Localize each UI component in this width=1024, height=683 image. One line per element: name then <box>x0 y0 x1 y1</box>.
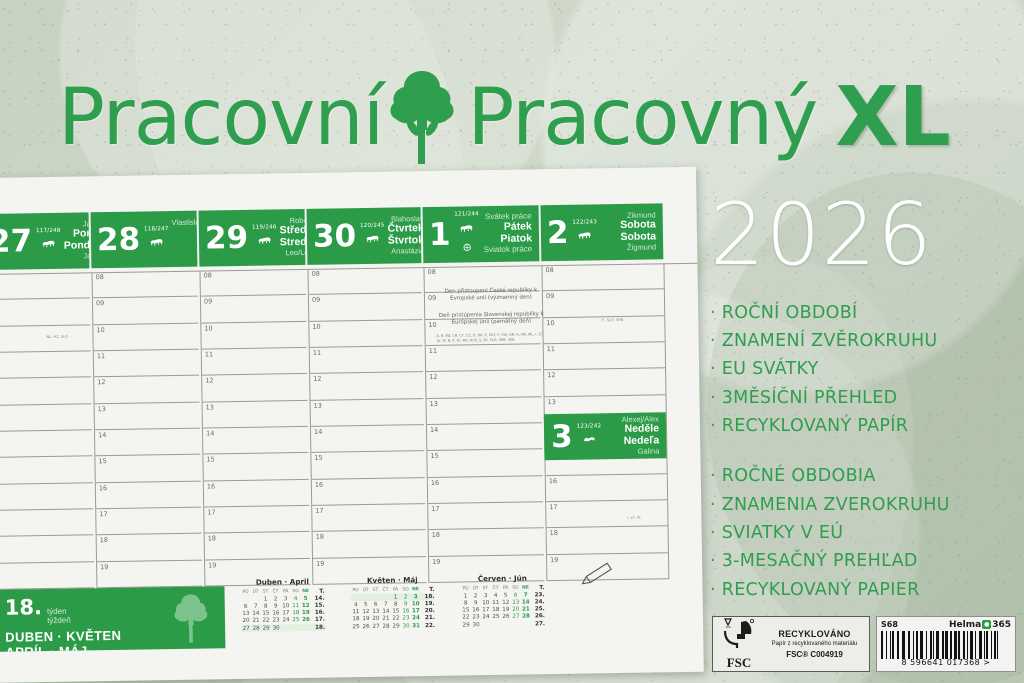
mini-day-cell[interactable]: 20 <box>511 606 521 613</box>
hour-slot[interactable]: 12 <box>426 371 541 399</box>
hour-label: 15 <box>314 454 322 462</box>
hour-slot[interactable]: 12 <box>310 372 423 400</box>
weekday-sk: Utorok <box>172 238 198 251</box>
title-slovak: Pracovný <box>467 79 817 157</box>
day-meta: 122/243 <box>572 220 597 245</box>
taurus-icon <box>36 235 61 253</box>
hour-slot[interactable]: 13 <box>203 401 308 429</box>
mini-day-cell[interactable]: 26 <box>501 613 511 620</box>
feature-item: SVIATKY V EÚ <box>710 519 1024 547</box>
feature-item: 3-MESAČNÝ PREHĽAD <box>710 547 1024 575</box>
mini-month-table: POÚTSTČTPÁSONET.123456723.89101112131424… <box>460 584 545 628</box>
hour-slot[interactable]: 17 <box>204 506 309 534</box>
hour-slot[interactable]: 18 <box>313 530 426 558</box>
day-header-28[interactable]: 28118/247Vlastislav/VlastislavaÚterýUtor… <box>91 211 198 269</box>
name-day-bottom: Jaroslav <box>64 252 89 261</box>
name-day-bottom: Leo/Lea <box>280 249 305 258</box>
hour-slot[interactable]: 11 <box>0 351 91 379</box>
mini-day-cell[interactable] <box>521 620 531 627</box>
mini-day-cell[interactable]: 22 <box>391 615 401 622</box>
hour-slot[interactable]: 17 <box>96 508 201 536</box>
hour-label: 13 <box>430 400 438 408</box>
mini-day-cell[interactable] <box>501 621 511 628</box>
hour-slot[interactable]: 16 <box>0 483 93 511</box>
page-header: Pracovní Pracovný XL <box>0 58 1024 178</box>
mini-day-cell[interactable]: 27 <box>511 613 521 620</box>
hour-label: 10 <box>312 322 320 330</box>
hour-slot[interactable]: 14 <box>0 430 92 458</box>
hour-label: 08 <box>96 273 104 281</box>
hour-slot[interactable]: 18 <box>547 527 668 555</box>
day-names: Svátek prácePátekPiatokSviatok práce <box>479 213 532 255</box>
hour-label: 12 <box>205 377 213 385</box>
hour-label: 13 <box>206 403 214 411</box>
mini-month-april: Duben · AprilPOÚTSTČTPÁSONET.1234514.678… <box>240 577 325 632</box>
mini-day-cell[interactable] <box>291 624 301 631</box>
mini-day-cell[interactable]: 11 <box>491 599 501 606</box>
hour-slot[interactable]: 08 <box>308 267 421 295</box>
mini-day-cell[interactable]: 27 <box>241 625 251 632</box>
day-meta: 119/246 <box>252 225 277 250</box>
mini-day-cell[interactable]: 16 <box>471 607 481 614</box>
eu-code-monday: NL, HZ, SLO <box>46 335 67 339</box>
name-day-bottom: Žigmund <box>600 243 656 252</box>
mini-day-cell[interactable]: 21 <box>381 615 391 622</box>
day-number: 1 <box>429 219 451 250</box>
year-label: 2026 <box>710 195 1024 277</box>
hour-slot[interactable]: 18 <box>97 534 202 562</box>
mini-day-cell[interactable] <box>511 621 521 628</box>
mini-day-cell[interactable]: 28 <box>251 625 261 632</box>
hour-label: 17 <box>207 508 215 516</box>
feature-item: ZNAMENIA ZVEROKRUHU <box>710 491 1024 519</box>
mini-day-cell[interactable]: 28 <box>381 623 391 630</box>
mini-week-number: 26. <box>531 613 545 620</box>
day-number: 29 <box>205 222 249 254</box>
hour-slot[interactable]: 17 <box>546 500 667 528</box>
mini-day-cell[interactable]: 16 <box>401 608 411 615</box>
hour-slot[interactable]: 08 <box>92 271 197 299</box>
mini-week-number: 23. <box>531 591 545 598</box>
mini-day-cell[interactable]: 14 <box>521 599 531 606</box>
mini-day-cell[interactable]: 30 <box>471 621 481 628</box>
mini-day-cell[interactable] <box>481 621 491 628</box>
feature-list-czech: ROČNÍ OBDOBÍZNAMENÍ ZVĚROKRUHUEU SVÁTKY3… <box>710 299 1024 441</box>
sunday-meta: 123/242 <box>577 424 602 449</box>
mini-day-cell[interactable]: 29 <box>391 622 401 629</box>
hour-slot[interactable]: 15 <box>0 457 93 485</box>
hour-label: 17 <box>431 505 439 513</box>
hour-slot[interactable]: 15 <box>95 455 200 483</box>
hour-label: 08 <box>427 268 435 276</box>
hour-label: 13 <box>98 405 106 413</box>
hour-label: 14 <box>206 429 214 437</box>
mini-day-cell[interactable]: 13 <box>241 610 251 617</box>
mini-day-cell[interactable]: 27 <box>371 623 381 630</box>
hour-label: 14 <box>314 428 322 436</box>
hour-slot[interactable]: 17 <box>0 509 94 537</box>
brand-mark-icon: ● <box>982 620 991 629</box>
hour-label: 11 <box>547 345 555 353</box>
hour-slot[interactable]: 16 <box>204 480 309 508</box>
hour-label: 15 <box>206 456 214 464</box>
hour-label: 12 <box>547 371 555 379</box>
mini-week-number: 21. <box>421 615 435 622</box>
barcode-bar <box>998 631 1000 659</box>
day-header-band: 27117/248JaroslavPondělíPondelokJaroslav… <box>0 203 697 274</box>
hour-slot[interactable]: 19 <box>97 560 202 588</box>
day-names: RobertStředaStredaLeo/Lea <box>276 217 305 258</box>
hour-slot[interactable]: 18 <box>205 532 310 560</box>
mini-day-cell[interactable]: 10 <box>281 603 291 610</box>
hour-slot[interactable]: 14 <box>311 425 424 453</box>
mini-day-cell[interactable]: 24 <box>481 614 491 621</box>
mini-week-number: 18. <box>311 624 325 631</box>
mini-day-cell[interactable]: 11 <box>351 609 361 616</box>
fsc-tree-icon: 100 <box>721 617 757 649</box>
week-word-sk: týždeň <box>47 616 71 625</box>
hour-slot[interactable]: 18 <box>429 529 544 557</box>
hour-label: 19 <box>316 559 324 567</box>
day-header-1[interactable]: 1121/244Svátek prácePátekPiatokSviatok p… <box>423 205 540 263</box>
hour-slot[interactable]: 18 <box>0 536 94 564</box>
mini-week-number: 24. <box>531 599 545 606</box>
hour-slot[interactable]: 14 <box>427 423 542 451</box>
mini-month-title: Duben · April <box>240 577 324 587</box>
mini-day-cell[interactable]: 17 <box>281 610 291 617</box>
mini-day-cell[interactable]: 19 <box>361 616 371 623</box>
hour-label: 17 <box>315 507 323 515</box>
hour-slot[interactable]: 15 <box>311 451 424 479</box>
feature-item: ROČNÍ OBDOBÍ <box>710 299 1024 327</box>
mini-day-cell[interactable]: 15 <box>391 608 401 615</box>
hour-label: 17 <box>99 510 107 518</box>
taurus-icon <box>454 219 479 237</box>
hour-slot[interactable]: 11 <box>94 350 199 378</box>
hour-slot[interactable]: 09 <box>201 295 306 323</box>
mini-day-cell[interactable]: 15 <box>461 607 471 614</box>
day-header-2[interactable]: 2122/243ZikmundSobotaSobotaŽigmund <box>540 203 663 261</box>
hour-slot[interactable]: 08 <box>200 269 305 297</box>
hour-slot[interactable]: 19 <box>0 562 94 590</box>
hour-label: 19 <box>208 561 216 569</box>
hour-slot[interactable]: 11 <box>426 344 541 372</box>
hour-label: 12 <box>313 375 321 383</box>
hour-label: 10 <box>96 326 104 334</box>
eu-code-saturday: IT, SLO, SRB <box>601 318 623 322</box>
feature-item: RECYKLOVANÝ PAPÍR <box>710 412 1024 440</box>
mini-week-number: 18. <box>421 593 435 600</box>
hour-label: 16 <box>431 478 439 486</box>
hour-label: 18 <box>316 533 324 541</box>
taurus-icon <box>572 227 597 245</box>
hour-slot[interactable]: 13 <box>311 399 424 427</box>
hour-slot[interactable]: 10 <box>309 320 422 348</box>
day-fraction: 117/248 <box>36 228 61 234</box>
hour-slot[interactable]: 16 <box>546 474 667 502</box>
hour-label: 14 <box>98 431 106 439</box>
mini-day-cell[interactable]: 11 <box>291 602 301 609</box>
hour-label: 08 <box>545 266 553 274</box>
hour-label: 09 <box>96 299 104 307</box>
mini-week-row: 2728293018. <box>241 624 325 633</box>
day-header-27[interactable]: 27117/248JaroslavPondělíPondelokJaroslav <box>0 212 89 270</box>
hour-slot[interactable]: 10 <box>0 325 91 353</box>
fsc-wordmark: FSC <box>718 655 760 671</box>
mini-day-cell[interactable]: 18 <box>351 616 361 623</box>
hour-slot[interactable]: 13 <box>95 402 200 430</box>
mini-day-cell[interactable] <box>301 624 311 631</box>
hour-slot[interactable]: 08 <box>0 272 90 300</box>
hour-slot[interactable]: 16 <box>312 478 425 506</box>
taurus-icon <box>144 233 169 251</box>
day-fraction: 118/247 <box>144 227 169 233</box>
hour-slot[interactable]: 13 <box>0 404 92 432</box>
mini-day-cell[interactable]: 17 <box>481 607 491 614</box>
taurus-icon <box>360 230 385 248</box>
mini-day-cell[interactable]: 20 <box>241 618 251 625</box>
feature-item: 3MĚSÍČNÍ PŘEHLED <box>710 384 1024 412</box>
mini-day-cell[interactable]: 13 <box>511 599 521 606</box>
day-column-27[interactable]: 080910111213141516171819 <box>0 272 94 590</box>
weekday-cz: Úterý <box>172 226 198 239</box>
mini-week-number: 15. <box>311 602 325 609</box>
hour-label: 14 <box>430 426 438 434</box>
mini-month-title: Červen · Jún <box>460 573 544 583</box>
hour-slot[interactable]: 16 <box>428 476 543 504</box>
mini-day-cell[interactable]: 24 <box>281 617 291 624</box>
day-column-29[interactable]: 080910111213141516171819 <box>199 269 310 587</box>
mini-month-title: Květen · Máj <box>350 575 434 585</box>
hour-label: 11 <box>429 347 437 355</box>
hour-slot[interactable]: 09 <box>0 299 90 327</box>
day-number: 30 <box>313 221 357 253</box>
product-sku: S68 <box>881 620 898 629</box>
mini-week-number: 25. <box>531 606 545 613</box>
week-number: 18. <box>5 595 43 620</box>
hour-slot[interactable]: 08 <box>542 263 663 291</box>
hour-slot[interactable]: 14 <box>203 427 308 455</box>
hour-slot[interactable]: 17 <box>428 502 543 530</box>
mini-day-cell[interactable]: 19 <box>301 609 311 616</box>
hour-slot[interactable]: 09 <box>543 290 664 318</box>
hour-slot[interactable]: 15 <box>203 453 308 481</box>
mini-day-cell[interactable]: 20 <box>371 616 381 623</box>
day-fraction: 122/243 <box>572 220 597 226</box>
mini-day-cell[interactable]: 15 <box>261 610 271 617</box>
brand-name: Helma <box>949 620 981 630</box>
hour-label: 15 <box>98 457 106 465</box>
feature-item: ZNAMENÍ ZVĚROKRUHU <box>710 327 1024 355</box>
holiday-note-sk: Deň pristúpenia Slovenskej republiky k E… <box>432 311 550 327</box>
mini-day-cell[interactable]: 23 <box>401 615 411 622</box>
mini-day-cell[interactable]: 28 <box>521 613 531 620</box>
feature-list-slovak: ROČNÉ OBDOBIAZNAMENIA ZVEROKRUHUSVIATKY … <box>710 462 1024 604</box>
taurus-icon <box>252 232 277 250</box>
hour-slot[interactable]: 10 <box>93 323 198 351</box>
hour-label: 11 <box>205 350 213 358</box>
mini-day-cell[interactable]: 19 <box>501 606 511 613</box>
mini-day-cell[interactable]: 30 <box>271 624 281 631</box>
fsc-certification-badge: 100 FSC RECYKLOVÁNO Papír z recyklovanéh… <box>712 616 870 672</box>
hour-slot[interactable]: 09 <box>309 293 422 321</box>
mini-day-cell[interactable]: 22 <box>261 617 271 624</box>
hour-slot[interactable]: 12 <box>202 374 307 402</box>
feature-item: RECYKLOVANÝ PAPIER <box>710 576 1024 604</box>
mini-week-number: 19. <box>421 600 435 607</box>
day-meta: 120/245 <box>360 223 385 248</box>
day-column-30[interactable]: 080910111213141516171819 <box>307 267 426 585</box>
hour-label: 19 <box>550 556 558 564</box>
hour-label: 11 <box>313 349 321 357</box>
mini-day-cell[interactable]: 29 <box>461 621 471 628</box>
mini-day-cell[interactable]: 12 <box>301 602 311 609</box>
taurus-icon <box>577 431 602 449</box>
hour-label: 11 <box>97 352 105 360</box>
mini-day-cell[interactable]: 29 <box>261 624 271 631</box>
mini-week-number: 20. <box>421 608 435 615</box>
feature-item: EU SVÁTKY <box>710 355 1024 383</box>
week-banner: 18. týden týždeň DUBEN · KVĚTEN APRÍL · … <box>0 586 225 652</box>
hour-label: 16 <box>315 480 323 488</box>
hour-slot[interactable]: 16 <box>96 481 201 509</box>
hour-label: 12 <box>429 373 437 381</box>
hour-slot[interactable]: 12 <box>94 376 199 404</box>
sunday-names: Alexej/Alex Neděle Nedeľa Galina <box>601 415 659 456</box>
hour-label: 18 <box>208 535 216 543</box>
mini-day-cell[interactable]: 14 <box>381 608 391 615</box>
sunday-day-fraction: 123/242 <box>577 424 602 430</box>
mini-month-table: POÚTSTČTPÁSONET.12318.4567891019.1112131… <box>350 586 435 630</box>
day-number: 27 <box>0 226 32 258</box>
mini-day-cell[interactable]: 10 <box>411 601 421 608</box>
hour-label: 18 <box>550 529 558 537</box>
hour-label: 09 <box>312 296 320 304</box>
day-number: 28 <box>97 224 141 256</box>
mini-day-cell[interactable]: 14 <box>251 610 261 617</box>
mini-day-cell[interactable]: 17 <box>411 608 421 615</box>
hour-slot[interactable]: 17 <box>312 504 425 532</box>
hour-label: 18 <box>432 531 440 539</box>
mini-week-header: T. <box>310 588 324 595</box>
mini-week-number: 16. <box>311 609 325 616</box>
hour-slot[interactable]: 12 <box>0 378 92 406</box>
svg-text:100: 100 <box>725 625 730 629</box>
mini-day-cell[interactable]: 25 <box>351 623 361 630</box>
hour-slot[interactable]: 11 <box>310 346 423 374</box>
feature-item: ROČNÉ OBDOBIA <box>710 462 1024 490</box>
mini-day-cell[interactable]: 10 <box>481 599 491 606</box>
mini-week-number: 27. <box>531 620 545 627</box>
hour-label: 15 <box>430 452 438 460</box>
mini-day-cell[interactable]: 21 <box>251 617 261 624</box>
hour-label: 19 <box>432 557 440 565</box>
barcode-digits: 8 596641 017368 > <box>881 658 1011 667</box>
hour-slot[interactable]: 15 <box>427 450 542 478</box>
barcode-bars <box>881 631 1011 659</box>
day-meta: 118/247 <box>144 227 169 252</box>
tree-icon <box>387 68 457 168</box>
name-day-bottom: Sviatok práce <box>482 245 532 255</box>
day-column-28[interactable]: 080910111213141516171819 <box>91 271 202 589</box>
mini-day-cell[interactable]: 23 <box>271 617 281 624</box>
mini-day-cell[interactable]: 31 <box>411 622 421 629</box>
hour-label: 08 <box>311 270 319 278</box>
hour-slot[interactable]: 11 <box>202 348 307 376</box>
day-names: JaroslavPondělíPondelokJaroslav <box>60 220 89 261</box>
mini-day-cell[interactable]: 21 <box>521 606 531 613</box>
hour-slot[interactable]: 11 <box>544 342 665 370</box>
day-names: BlahoslavČtvrtekŠtvrtokAnastázia <box>384 215 421 256</box>
day-header-sunday[interactable]: 3 123/242 Alexej/Alex Neděle Nedeľa Gali… <box>544 412 667 460</box>
mini-day-cell[interactable]: 30 <box>401 622 411 629</box>
mini-month-june: Červen · JúnPOÚTSTČTPÁSONET.123456723.89… <box>460 573 545 628</box>
mini-day-cell[interactable]: 26 <box>361 623 371 630</box>
mini-day-cell[interactable]: 26 <box>301 617 311 624</box>
right-info-panel: 2026 ROČNÍ OBDOBÍZNAMENÍ ZVĚROKRUHUEU SV… <box>710 195 1024 604</box>
mini-day-cell[interactable]: 23 <box>471 614 481 621</box>
mini-day-cell[interactable]: 13 <box>371 608 381 615</box>
mini-week-number: 17. <box>311 616 325 623</box>
hour-slot[interactable]: 10 <box>201 322 306 350</box>
hour-slot[interactable]: 14 <box>95 429 200 457</box>
fsc-line2: Papír z recyklovaného materiálu <box>765 641 864 648</box>
mini-day-cell[interactable]: 22 <box>461 614 471 621</box>
hour-slot[interactable]: 13 <box>427 397 542 425</box>
mini-day-cell[interactable]: 16 <box>271 610 281 617</box>
mini-day-cell[interactable]: 25 <box>491 614 501 621</box>
day-header-30[interactable]: 30120/245BlahoslavČtvrtekŠtvrtokAnastázi… <box>307 207 422 265</box>
day-header-29[interactable]: 29119/246RobertStředaStredaLeo/Lea <box>199 209 306 267</box>
week-word-cz: týden <box>47 607 67 616</box>
mini-week-row: 293027. <box>461 620 545 629</box>
mini-day-cell[interactable] <box>491 621 501 628</box>
mini-month-may: Květen · MájPOÚTSTČTPÁSONET.12318.456789… <box>350 575 435 630</box>
calendar-sheet: 27117/248JaroslavPondělíPondelokJaroslav… <box>0 167 704 683</box>
hour-label: 13 <box>548 398 556 406</box>
hour-label: 13 <box>314 401 322 409</box>
mini-day-cell[interactable]: 18 <box>491 606 501 613</box>
eu-country-codes: A, B, BG, CR, CY, CZ, D, DK, E, EST, F, … <box>437 332 549 343</box>
barcode-block: S68 Helma●365 8 596641 017368 > <box>876 616 1016 672</box>
mini-day-cell[interactable]: 25 <box>291 617 301 624</box>
eu-code-sunday: I, LT, PL <box>627 516 641 520</box>
mini-day-cell[interactable]: 12 <box>361 609 371 616</box>
hour-label: 16 <box>549 477 557 485</box>
hour-slot[interactable]: 09 <box>93 297 198 325</box>
mini-day-cell[interactable]: 12 <box>501 599 511 606</box>
hour-label: 08 <box>203 271 211 279</box>
hour-label: 18 <box>100 536 108 544</box>
hour-label: 16 <box>207 482 215 490</box>
name-day-top: Vlastislav/Vlastislava <box>171 218 197 227</box>
day-fraction: 121/244 <box>454 212 479 218</box>
day-names: Vlastislav/VlastislavaÚterýUtorokJarmila <box>168 218 197 259</box>
mini-day-cell[interactable] <box>281 624 291 631</box>
hour-slot[interactable]: 12 <box>544 369 665 397</box>
tree-icon <box>167 592 216 645</box>
mini-day-cell[interactable]: 24 <box>411 615 421 622</box>
day-fraction: 120/245 <box>360 223 385 229</box>
mini-month-table: POÚTSTČTPÁSONET.1234514.678910111215.131… <box>240 588 325 632</box>
mini-week-number: 14. <box>311 595 325 602</box>
fsc-line3: FSC® C004919 <box>765 650 864 659</box>
holiday-note-cz: Den přistoupení České republiky k Evrops… <box>432 287 550 303</box>
title-czech: Pracovní <box>58 79 383 157</box>
mini-day-cell[interactable]: 18 <box>291 610 301 617</box>
hour-label: 09 <box>204 298 212 306</box>
mini-week-number: 22. <box>421 622 435 629</box>
